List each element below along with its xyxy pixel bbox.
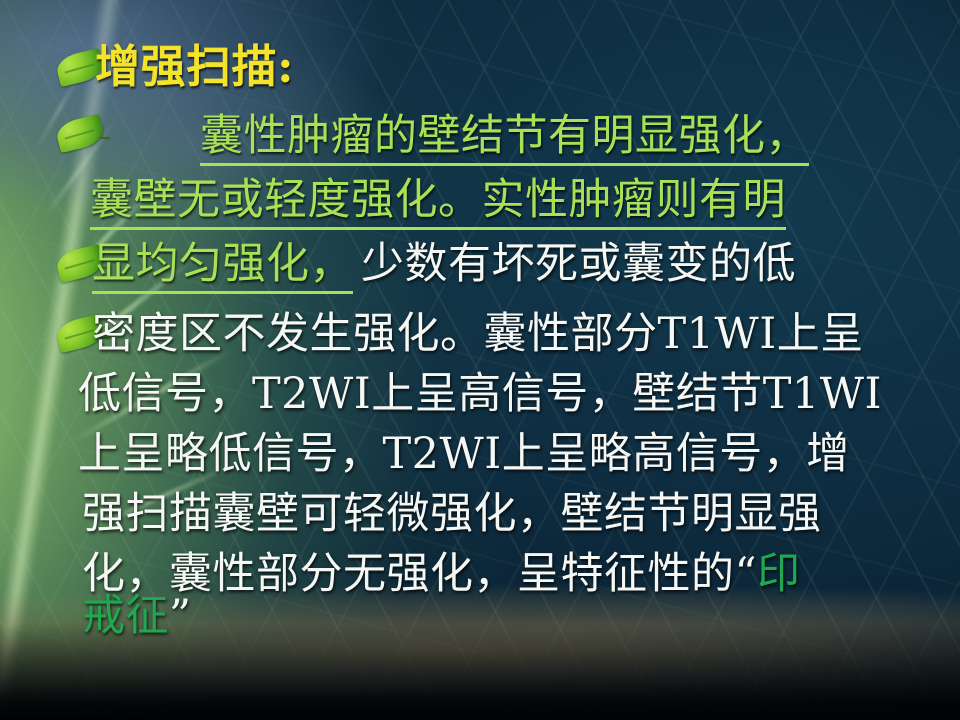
body-text-segment: 戒征 xyxy=(82,591,169,641)
body-text-segment: 囊壁无或轻度强化。实性肿瘤则有明 xyxy=(90,175,786,230)
heading-text: 增强扫描: xyxy=(95,40,294,93)
body-line: 化，囊性部分无强化，呈特征性的“印 xyxy=(0,553,960,596)
body-text-segment: 少数有坏死或囊变的低 xyxy=(361,239,796,289)
body-line: 囊性肿瘤的壁结节有明显强化， xyxy=(0,115,960,158)
slide-canvas: 增强扫描: 囊性肿瘤的壁结节有明显强化， 囊壁无或轻度强化。实性肿瘤则有明 显均… xyxy=(0,0,960,720)
body-line: 囊壁无或轻度强化。实性肿瘤则有明 xyxy=(0,179,960,222)
body-line: 密度区不发生强化。囊性部分T1WI上呈 xyxy=(0,313,960,356)
body-text-segment: 印 xyxy=(757,549,801,599)
body-text-segment: 囊性肿瘤的壁结节有明显强化， xyxy=(200,111,809,166)
body-text-segment: 显均匀强化， xyxy=(92,239,353,294)
body-text-segment: 低信号，T2WI上呈高信号，壁结节T1WI xyxy=(78,369,882,419)
body-text-segment: ” xyxy=(169,591,191,641)
body-line: 显均匀强化，少数有坏死或囊变的低 xyxy=(0,243,960,286)
body-text-segment: 强扫描囊壁可轻微强化，壁结节明显强 xyxy=(82,489,822,539)
body-line: 上呈略低信号，T2WI上呈略高信号，增 xyxy=(0,433,960,476)
slide-content: 增强扫描: 囊性肿瘤的壁结节有明显强化， 囊壁无或轻度强化。实性肿瘤则有明 显均… xyxy=(0,0,960,720)
body-text-segment: 密度区不发生强化。囊性部分T1WI上呈 xyxy=(92,309,864,359)
slide-heading: 增强扫描: xyxy=(0,44,960,90)
body-text-segment: 上呈略低信号，T2WI上呈略高信号，增 xyxy=(78,429,850,479)
body-line: 低信号，T2WI上呈高信号，壁结节T1WI xyxy=(0,373,960,416)
body-line: 强扫描囊壁可轻微强化，壁结节明显强 xyxy=(0,493,960,536)
body-line: 戒征” xyxy=(0,595,960,638)
